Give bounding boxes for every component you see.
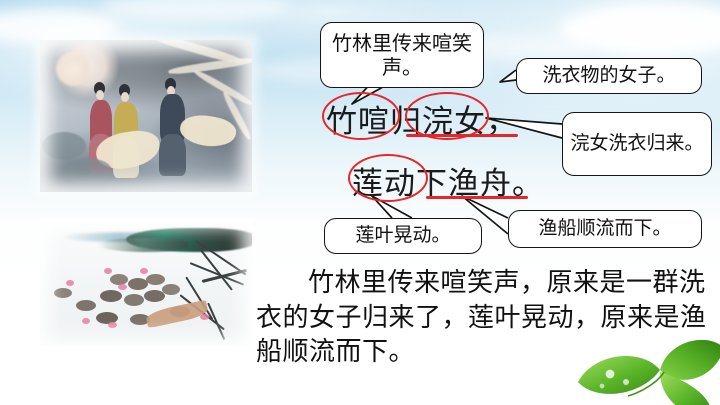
- leaf-shape: [578, 356, 660, 394]
- dew-drop: [600, 384, 605, 389]
- dew-drop: [623, 379, 629, 385]
- bubble-text: 竹林里传来喧笑声。: [327, 31, 477, 80]
- bubble-women-return[interactable]: 浣女洗衣归来。: [562, 112, 712, 176]
- leaf-shape: [660, 340, 720, 380]
- annotation-underline-line2: [426, 196, 528, 199]
- bubble-text: 浣女洗衣归来。: [570, 132, 703, 155]
- bubble-boat-downstream[interactable]: 渔船顺流而下。: [508, 210, 702, 248]
- painting-lotus-boat: [40, 218, 252, 346]
- painting-washerwomen: [40, 40, 252, 192]
- bubble-text: 洗衣物的女子。: [542, 64, 675, 87]
- annotation-circle-huannv: [405, 92, 489, 140]
- bubble-text: 莲叶晃动。: [355, 224, 450, 247]
- green-leaves-decoration: [568, 330, 720, 405]
- bubble-bamboo-laughter[interactable]: 竹林里传来喧笑声。: [320, 22, 484, 88]
- vignette-overlay: [40, 40, 252, 192]
- annotation-circle-liandong: [348, 154, 428, 202]
- bubble-text: 渔船顺流而下。: [538, 217, 671, 240]
- dew-drop: [606, 370, 615, 379]
- annotation-circle-zhuxuan: [322, 92, 400, 140]
- bubble-lotus-sway[interactable]: 莲叶晃动。: [324, 218, 482, 254]
- vignette-overlay: [40, 218, 252, 346]
- bubble-washing-women[interactable]: 洗衣物的女子。: [516, 58, 702, 94]
- slide-canvas: 竹林里传来喧笑声。 洗衣物的女子。 浣女洗衣归来。 莲叶晃动。 渔船顺流而下。 …: [0, 0, 720, 405]
- annotation-underline-line1: [406, 134, 518, 137]
